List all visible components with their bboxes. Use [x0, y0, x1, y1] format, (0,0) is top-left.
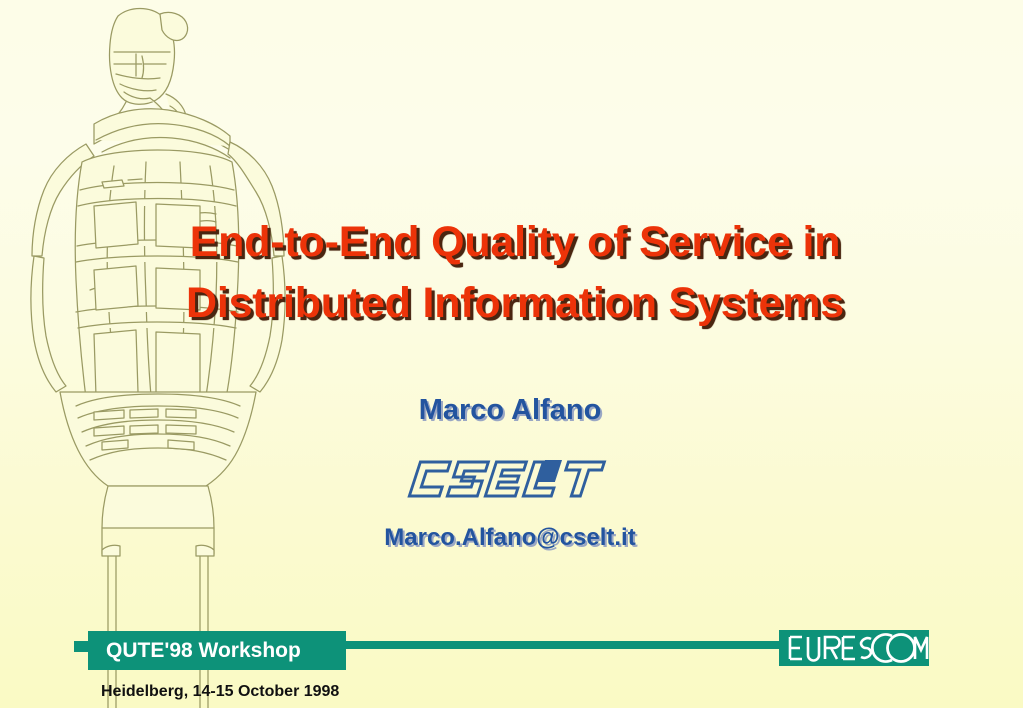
title-line-1: End-to-End Quality of Service in: [70, 212, 960, 273]
eurescom-logo: [779, 630, 929, 666]
page-title: End-to-End Quality of Service in Distrib…: [70, 212, 960, 334]
workshop-label: QUTE'98 Workshop: [88, 639, 301, 663]
cselt-logo: [398, 457, 614, 501]
statue-watermark-graphic: [0, 0, 350, 708]
author-email: Marco.Alfano@cselt.it: [200, 524, 820, 552]
author-name: Marco Alfano: [200, 394, 820, 427]
venue-label: Heidelberg, 14-15 October 1998: [101, 683, 339, 701]
workshop-badge: QUTE'98 Workshop: [88, 631, 346, 670]
title-line-2: Distributed Information Systems: [70, 273, 960, 334]
presentation-slide: End-to-End Quality of Service in Distrib…: [0, 0, 1023, 708]
